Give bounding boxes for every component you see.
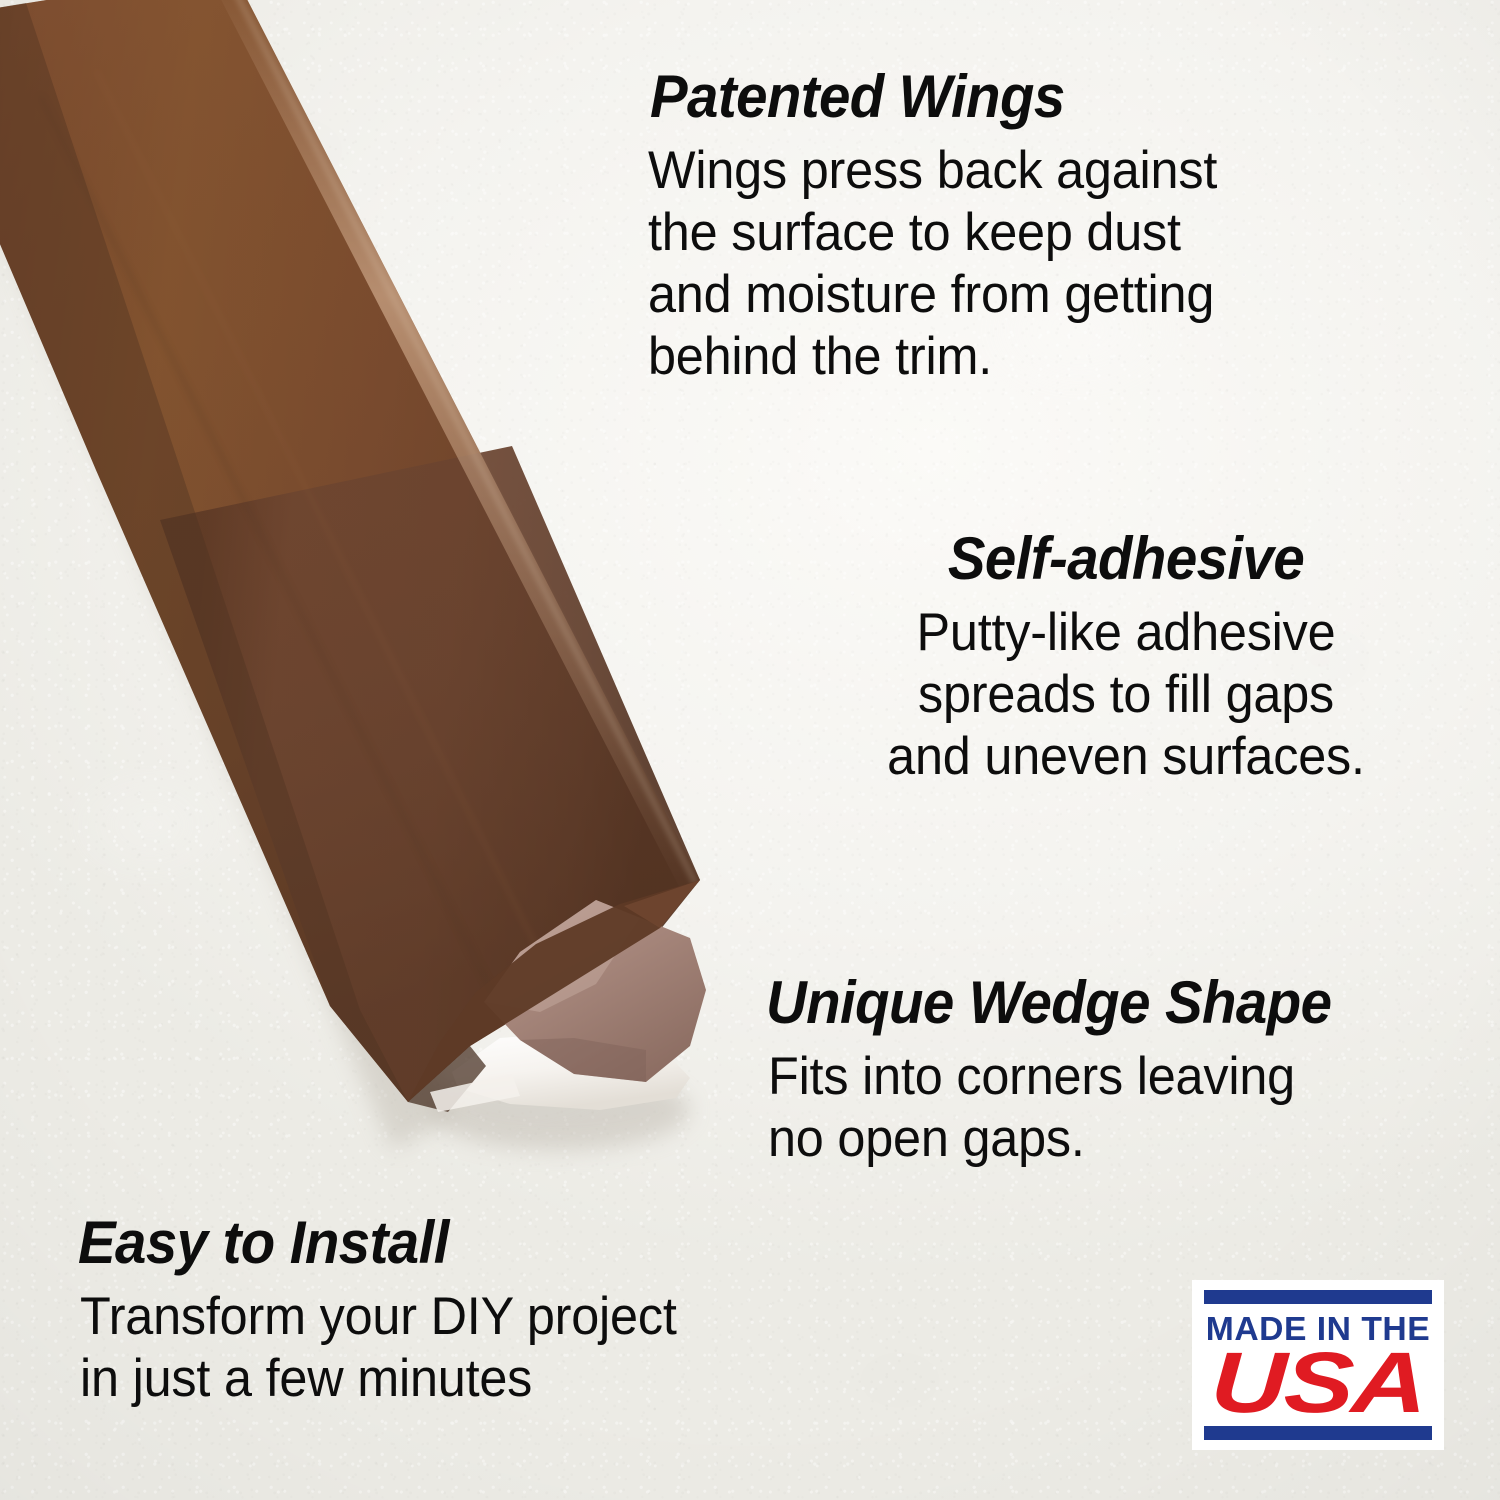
badge-usa-text: USA: [1177, 1347, 1458, 1419]
callout-body-line: no open gaps.: [768, 1108, 1338, 1170]
callout-body: Transform your DIY project in just a few…: [80, 1286, 677, 1410]
callout-body-line: spreads to fill gaps: [866, 664, 1387, 726]
product-feature-infographic: Patented Wings Wings press back against …: [0, 0, 1500, 1500]
callout-body-line: Putty-like adhesive: [866, 602, 1387, 664]
made-in-usa-badge: MADE IN THE USA: [1192, 1280, 1444, 1450]
callout-body-line: behind the trim.: [648, 326, 1217, 388]
badge-top-rule: [1204, 1290, 1432, 1304]
callout-body-line: the surface to keep dust: [648, 202, 1217, 264]
callout-heading: Easy to Install: [78, 1212, 670, 1274]
callout-unique-wedge-shape: Unique Wedge Shape Fits into corners lea…: [766, 972, 1368, 1170]
callout-body: Putty-like adhesive spreads to fill gaps…: [866, 602, 1387, 788]
callout-heading: Patented Wings: [650, 66, 1211, 128]
callout-self-adhesive: Self-adhesive Putty-like adhesive spread…: [852, 528, 1400, 788]
callout-body-line: and moisture from getting: [648, 264, 1217, 326]
callout-body-line: and uneven surfaces.: [866, 726, 1387, 788]
callout-body-line: Wings press back against: [648, 140, 1217, 202]
callout-patented-wings: Patented Wings Wings press back against …: [648, 66, 1247, 388]
callout-easy-to-install: Easy to Install Transform your DIY proje…: [78, 1212, 708, 1410]
callout-body: Wings press back against the surface to …: [648, 140, 1217, 388]
callout-body-line: Transform your DIY project: [80, 1286, 677, 1348]
callout-body: Fits into corners leaving no open gaps.: [768, 1046, 1338, 1170]
callout-heading: Self-adhesive: [868, 528, 1383, 590]
callout-body-line: in just a few minutes: [80, 1348, 677, 1410]
callout-body-line: Fits into corners leaving: [768, 1046, 1338, 1108]
callout-heading: Unique Wedge Shape: [766, 972, 1331, 1034]
